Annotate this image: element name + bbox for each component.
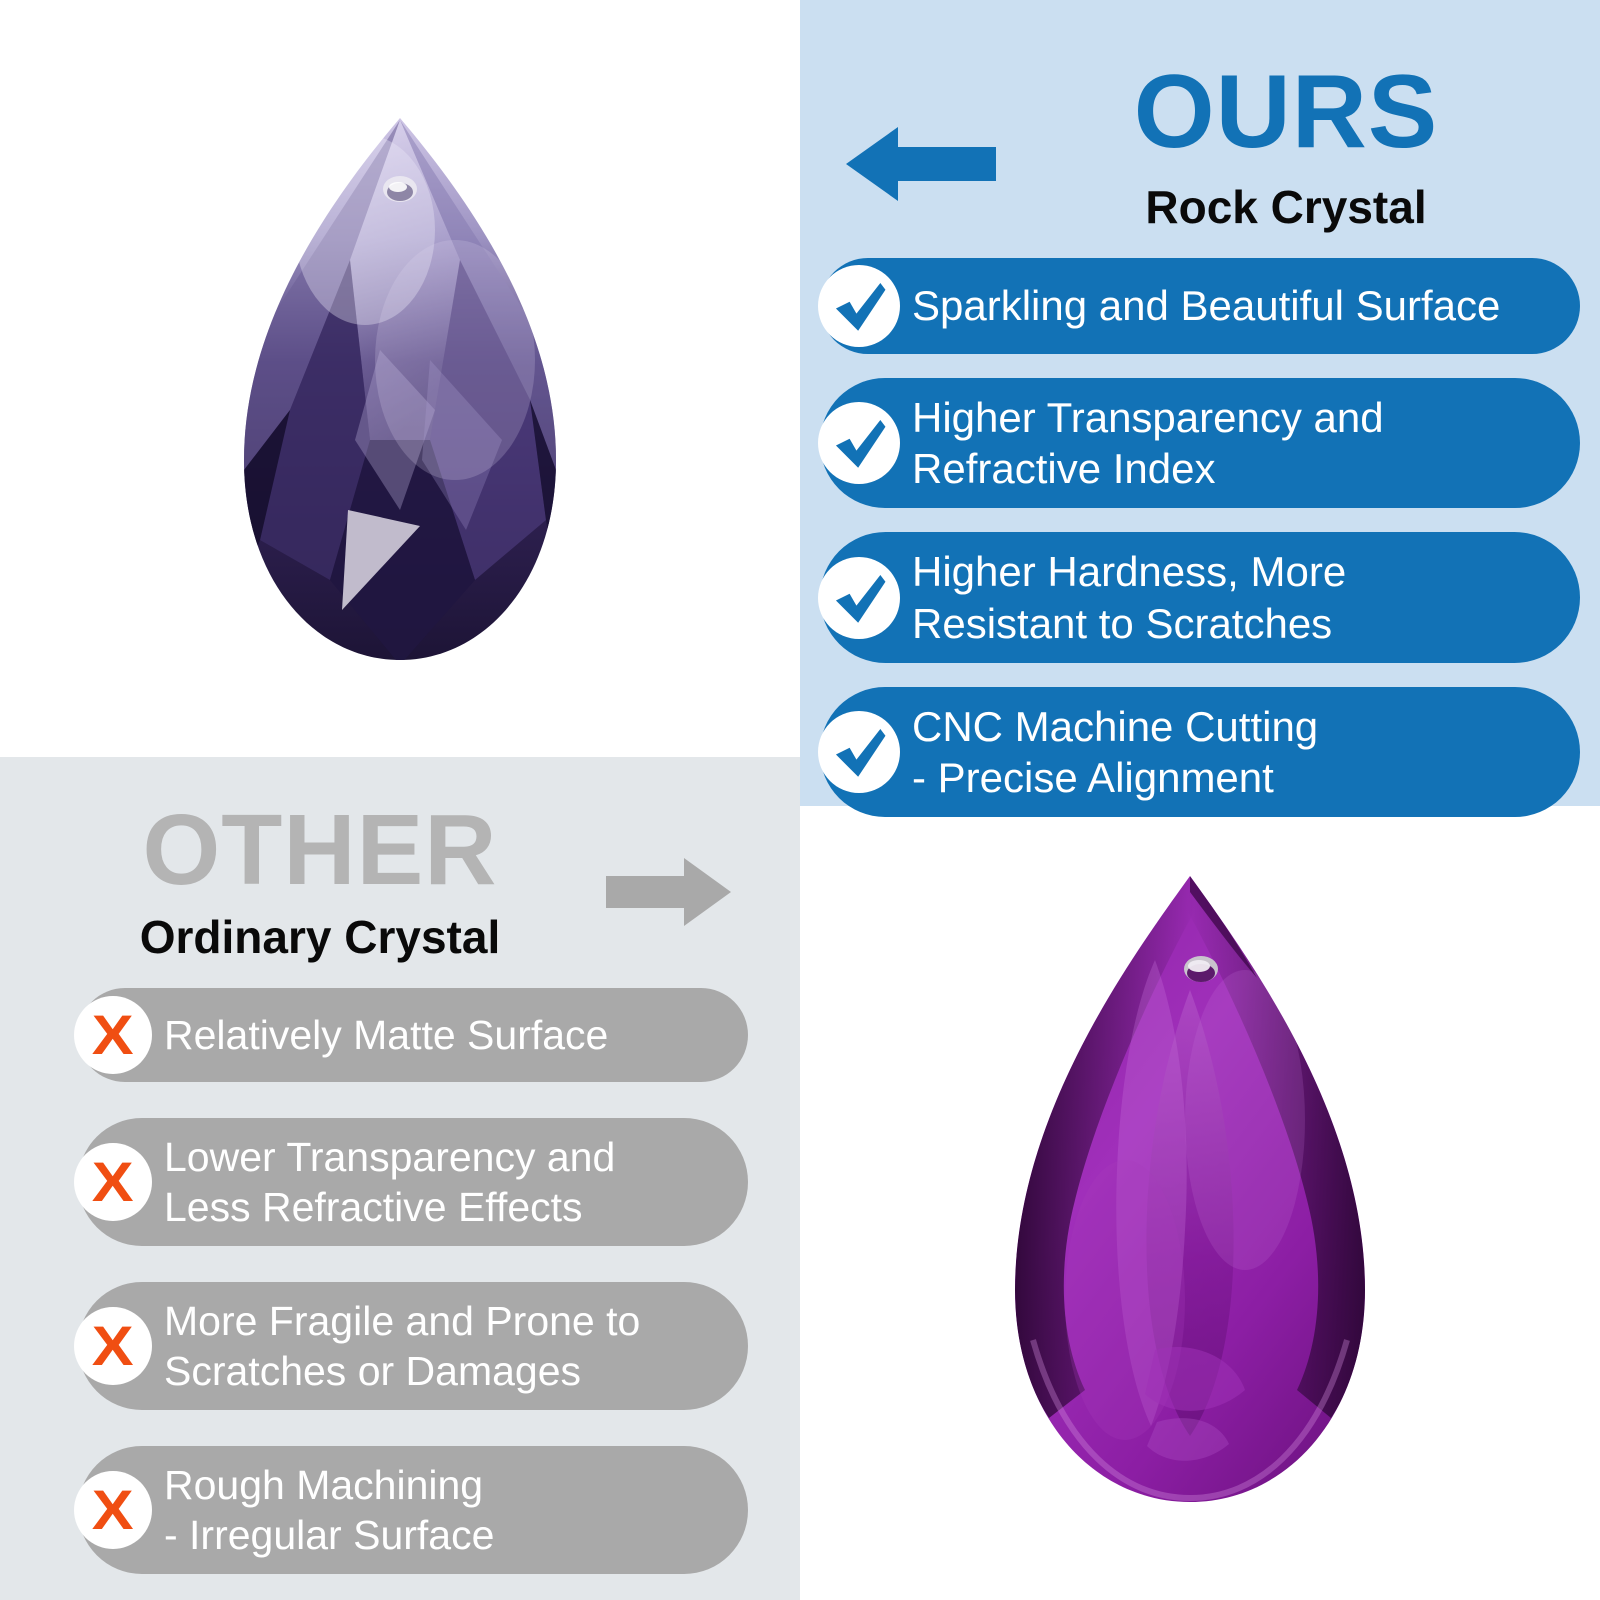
x-icon: X [74, 1471, 152, 1549]
ours-feature-list: Sparkling and Beautiful Surface Higher T… [820, 258, 1580, 841]
check-icon [818, 402, 900, 484]
list-item[interactable]: X More Fragile and Prone to Scratches or… [78, 1282, 748, 1410]
list-item-label: Relatively Matte Surface [164, 1010, 608, 1060]
other-crystal-image [1005, 870, 1375, 1510]
other-feature-list: X Relatively Matte Surface X Lower Trans… [78, 988, 748, 1600]
ours-title: OURS [1006, 60, 1566, 164]
ours-subtitle: Rock Crystal [1006, 180, 1566, 234]
ours-crystal-image [230, 110, 570, 670]
list-item-label: Sparkling and Beautiful Surface [912, 280, 1500, 331]
list-item[interactable]: X Rough Machining - Irregular Surface [78, 1446, 748, 1574]
list-item[interactable]: X Lower Transparency and Less Refractive… [78, 1118, 748, 1246]
list-item-label: Lower Transparency and Less Refractive E… [164, 1132, 615, 1232]
other-subtitle: Ordinary Crystal [40, 910, 600, 964]
arrow-left-icon [846, 125, 996, 203]
list-item-label: More Fragile and Prone to Scratches or D… [164, 1296, 640, 1396]
check-icon [818, 557, 900, 639]
x-icon: X [74, 996, 152, 1074]
other-title: OTHER [40, 800, 600, 900]
x-icon: X [74, 1307, 152, 1385]
arrow-right-icon [606, 856, 731, 928]
x-icon: X [74, 1143, 152, 1221]
comparison-infographic: OURS Rock Crystal Sparkling and Beautifu… [0, 0, 1600, 1600]
list-item[interactable]: CNC Machine Cutting - Precise Alignment [820, 687, 1580, 817]
list-item-label: CNC Machine Cutting - Precise Alignment [912, 701, 1318, 803]
check-icon [818, 265, 900, 347]
list-item-label: Higher Hardness, More Resistant to Scrat… [912, 546, 1346, 648]
list-item-label: Higher Transparency and Refractive Index [912, 392, 1384, 494]
list-item[interactable]: Sparkling and Beautiful Surface [820, 258, 1580, 354]
list-item[interactable]: Higher Hardness, More Resistant to Scrat… [820, 532, 1580, 662]
list-item[interactable]: X Relatively Matte Surface [78, 988, 748, 1082]
other-header: OTHER Ordinary Crystal [0, 780, 800, 970]
ours-header: OURS Rock Crystal [800, 30, 1600, 230]
list-item-label: Rough Machining - Irregular Surface [164, 1460, 494, 1560]
check-icon [818, 711, 900, 793]
list-item[interactable]: Higher Transparency and Refractive Index [820, 378, 1580, 508]
